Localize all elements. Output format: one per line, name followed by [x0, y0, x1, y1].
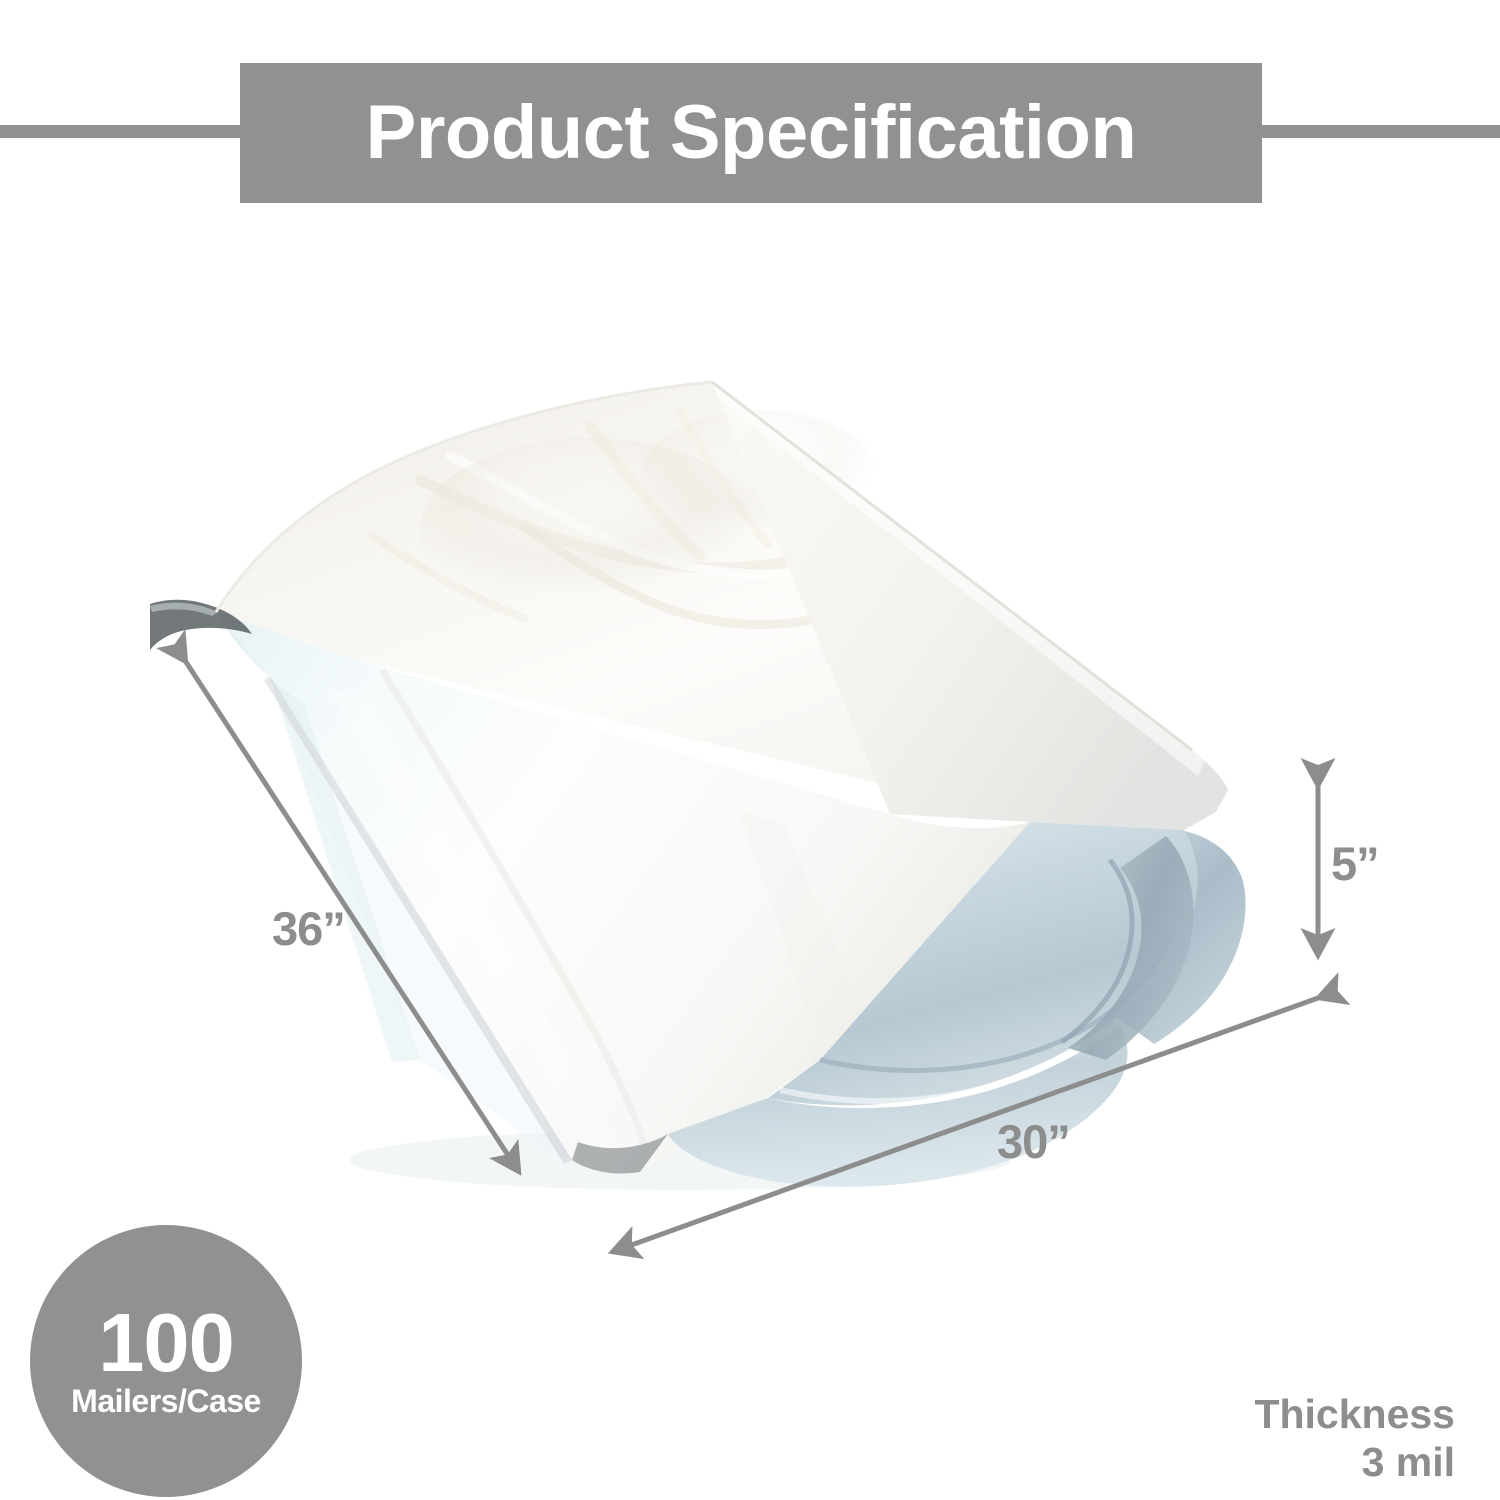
header-banner: Product Specification — [240, 63, 1262, 203]
thickness-label: Thickness — [1254, 1390, 1455, 1438]
badge-count: 100 — [98, 1305, 233, 1381]
mailers-per-case-badge: 100 Mailers/Case — [30, 1225, 302, 1497]
poly-mailer-illustration — [120, 360, 1300, 1220]
page-title: Product Specification — [366, 95, 1137, 171]
product-image — [120, 360, 1300, 1220]
product-spec-canvas: Product Specification — [0, 0, 1500, 1500]
badge-caption: Mailers/Case — [71, 1385, 261, 1417]
thickness-block: Thickness 3 mil — [1254, 1390, 1455, 1487]
thickness-value: 3 mil — [1254, 1438, 1455, 1486]
dimension-label-5: 5” — [1331, 840, 1379, 887]
dimension-label-30: 30” — [997, 1118, 1070, 1165]
dimension-label-36: 36” — [272, 905, 345, 952]
